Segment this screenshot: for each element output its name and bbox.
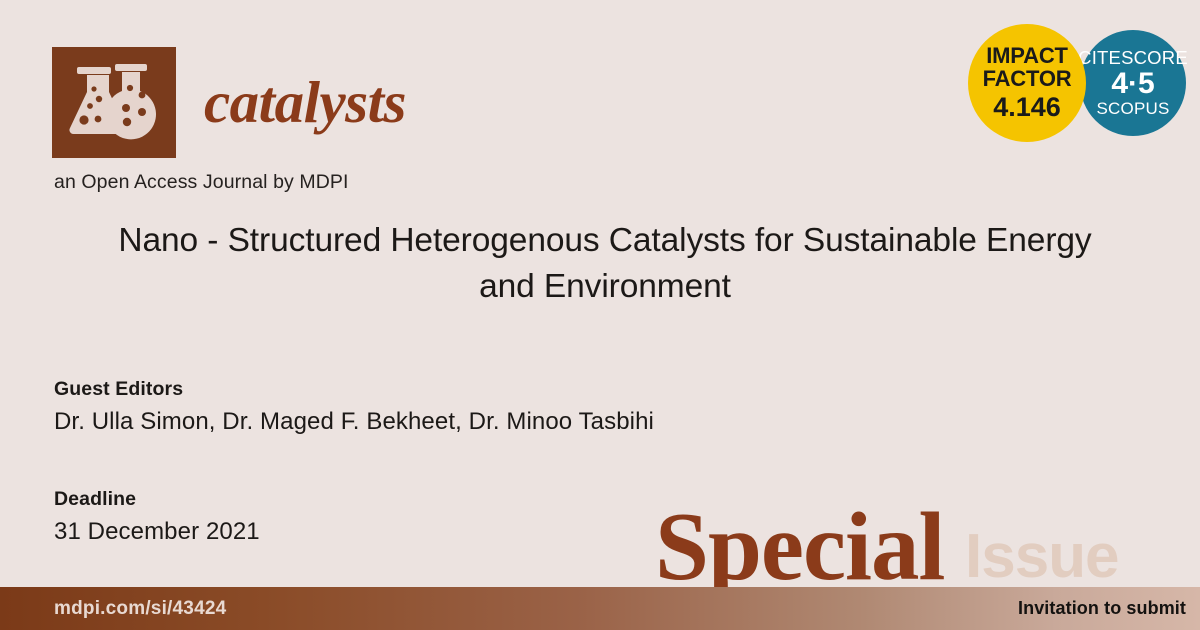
footer-bar: mdpi.com/si/43424 Invitation to submit xyxy=(0,587,1200,630)
citescore-label: CITESCORE xyxy=(1078,48,1188,67)
guest-editors-block: Guest Editors Dr. Ulla Simon, Dr. Maged … xyxy=(54,378,654,436)
special-issue-title: Nano - Structured Heterogenous Catalysts… xyxy=(100,218,1110,310)
lockup-issue-word: Issue xyxy=(965,526,1119,588)
deadline-block: Deadline 31 December 2021 xyxy=(54,488,260,546)
journal-tagline: an Open Access Journal by MDPI xyxy=(54,171,349,194)
impact-factor-line2: FACTOR xyxy=(983,68,1072,91)
citescore-value: 4·5 xyxy=(1111,68,1154,99)
special-issue-url[interactable]: mdpi.com/si/43424 xyxy=(54,598,226,620)
journal-wordmark: catalysts xyxy=(204,73,406,132)
journal-logo-block[interactable]: catalysts xyxy=(52,47,406,158)
metric-badges: IMPACT FACTOR 4.146 CITESCORE 4·5 SCOPUS xyxy=(968,24,1186,142)
guest-editors-names: Dr. Ulla Simon, Dr. Maged F. Bekheet, Dr… xyxy=(54,408,654,436)
citescore-badge: CITESCORE 4·5 SCOPUS xyxy=(1080,30,1186,136)
impact-factor-value: 4.146 xyxy=(993,93,1061,121)
invitation-to-submit-label[interactable]: Invitation to submit xyxy=(1018,598,1186,619)
lockup-special-word: Special xyxy=(655,498,944,595)
citescore-source: SCOPUS xyxy=(1097,100,1170,118)
deadline-label: Deadline xyxy=(54,488,260,511)
guest-editors-label: Guest Editors xyxy=(54,378,654,401)
impact-factor-line1: IMPACT xyxy=(986,45,1068,68)
special-issue-poster: catalysts an Open Access Journal by MDPI… xyxy=(0,0,1200,630)
impact-factor-badge: IMPACT FACTOR 4.146 xyxy=(968,24,1086,142)
laboratory-flasks-icon xyxy=(52,47,176,158)
deadline-date: 31 December 2021 xyxy=(54,518,260,546)
